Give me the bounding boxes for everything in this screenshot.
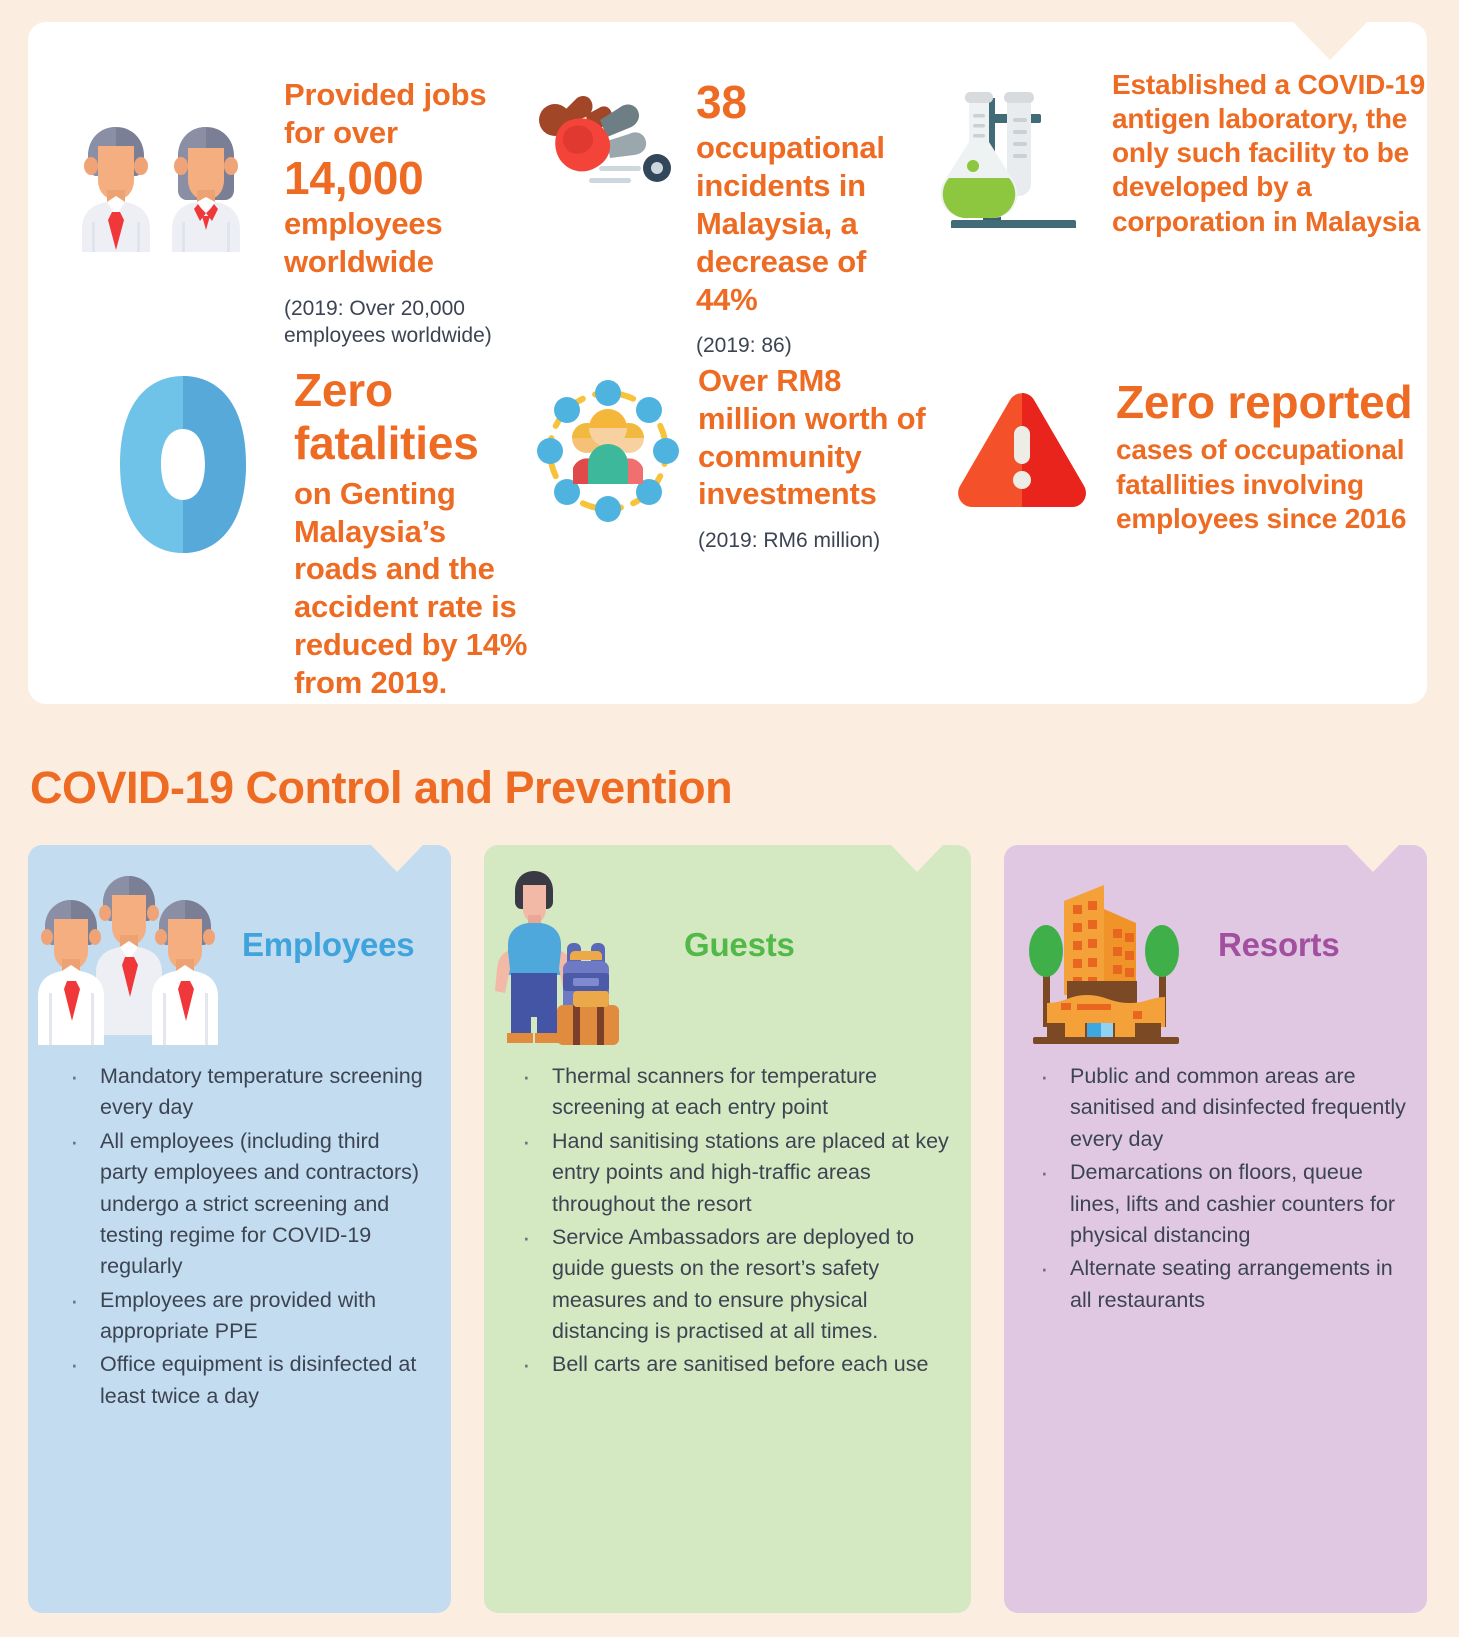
- card-resorts-title: Resorts: [1204, 926, 1427, 964]
- stat-fatalities-label: on Genting Malaysia’s roads and the acci…: [294, 475, 528, 702]
- two-office-employees-icon: [68, 76, 274, 269]
- list-item: Alternate seating arrangements in all re…: [1024, 1253, 1413, 1316]
- stat-jobs-note: (2019: Over 20,000 employees worldwide): [284, 295, 528, 350]
- stat-laboratory-text: Established a COVID-19 antigen laborator…: [1108, 68, 1427, 239]
- stat-community-label: Over RM8 million worth of community inve…: [698, 362, 928, 513]
- list-item: Public and common areas are sanitised an…: [1024, 1061, 1413, 1155]
- card-guests-header: Guests: [484, 845, 971, 1045]
- list-item: Office equipment is disinfected at least…: [54, 1349, 429, 1412]
- statistics-grid: Provided jobs for over 14,000 employees …: [28, 22, 1427, 704]
- infographic-page: Provided jobs for over 14,000 employees …: [0, 0, 1459, 1637]
- list-item: Mandatory temperature screening every da…: [54, 1061, 429, 1124]
- stat-incidents-label: occupational incidents in Malaysia, a de…: [696, 129, 928, 318]
- card-resorts: Resorts Public and common areas are sani…: [1004, 845, 1427, 1613]
- stat-community: Over RM8 million worth of community inve…: [528, 352, 928, 704]
- card-employees: Employees Mandatory temperature screenin…: [28, 845, 451, 1613]
- stat-laboratory: Established a COVID-19 antigen laborator…: [928, 22, 1427, 352]
- traveller-with-luggage-icon: [484, 845, 664, 1045]
- stat-community-note: (2019: RM6 million): [698, 527, 928, 555]
- stat-incidents-text: 38 occupational incidents in Malaysia, a…: [688, 76, 928, 360]
- stat-community-text: Over RM8 million worth of community inve…: [688, 362, 928, 555]
- card-guests-bullets: Thermal scanners for temperature screeni…: [484, 1061, 971, 1381]
- prevention-cards: Employees Mandatory temperature screenin…: [28, 845, 1427, 1613]
- list-item: Thermal scanners for temperature screeni…: [506, 1061, 955, 1124]
- stat-fatalities-text: Zero fatalities on Genting Malaysia’s ro…: [278, 364, 528, 702]
- three-employees-icon: [28, 845, 238, 1045]
- stat-fatalities: Zero fatalities on Genting Malaysia’s ro…: [28, 352, 528, 704]
- list-item: Bell carts are sanitised before each use: [506, 1349, 955, 1380]
- list-item: Employees are provided with appropriate …: [54, 1285, 429, 1348]
- stat-fatalities-headline: Zero fatalities: [294, 364, 528, 471]
- card-employees-title: Employees: [238, 926, 451, 964]
- stat-jobs-line2: employees worldwide: [284, 205, 528, 281]
- stat-zero-reported-text: Zero reported cases of occupational fata…: [1102, 376, 1427, 536]
- list-item: All employees (including third party emp…: [54, 1126, 429, 1283]
- statistics-panel: Provided jobs for over 14,000 employees …: [28, 22, 1427, 704]
- stat-incidents: 38 occupational incidents in Malaysia, a…: [528, 22, 928, 352]
- list-item: Demarcations on floors, queue lines, lif…: [1024, 1157, 1413, 1251]
- stat-zero-reported-headline: Zero reported: [1116, 376, 1427, 429]
- community-people-circle-icon: [528, 362, 688, 526]
- card-guests: Guests Thermal scanners for temperature …: [484, 845, 971, 1613]
- stat-incidents-number: 38: [696, 76, 928, 129]
- stat-laboratory-label: Established a COVID-19 antigen laborator…: [1112, 68, 1427, 239]
- stat-zero-reported-label: cases of occupational fatallities involv…: [1116, 433, 1427, 535]
- section-heading: COVID-19 Control and Prevention: [30, 762, 732, 814]
- list-item: Hand sanitising stations are placed at k…: [506, 1126, 955, 1220]
- stat-jobs-number: 14,000: [284, 152, 528, 205]
- stat-jobs: Provided jobs for over 14,000 employees …: [28, 22, 528, 352]
- card-employees-bullets: Mandatory temperature screening every da…: [28, 1061, 451, 1412]
- card-guests-title: Guests: [664, 926, 971, 964]
- stat-zero-reported: Zero reported cases of occupational fata…: [928, 352, 1427, 704]
- card-resorts-bullets: Public and common areas are sanitised an…: [1004, 1061, 1427, 1316]
- falling-worker-accident-icon: [528, 76, 688, 201]
- stat-jobs-line1: Provided jobs for over: [284, 76, 528, 152]
- lab-flask-test-tube-icon: [928, 68, 1108, 228]
- zero-digit-icon: [88, 364, 278, 557]
- list-item: Service Ambassadors are deployed to guid…: [506, 1222, 955, 1348]
- card-employees-header: Employees: [28, 845, 451, 1045]
- resort-buildings-icon: [1004, 845, 1204, 1045]
- card-resorts-header: Resorts: [1004, 845, 1427, 1045]
- warning-triangle-icon: [942, 376, 1102, 515]
- stat-jobs-text: Provided jobs for over 14,000 employees …: [274, 76, 528, 350]
